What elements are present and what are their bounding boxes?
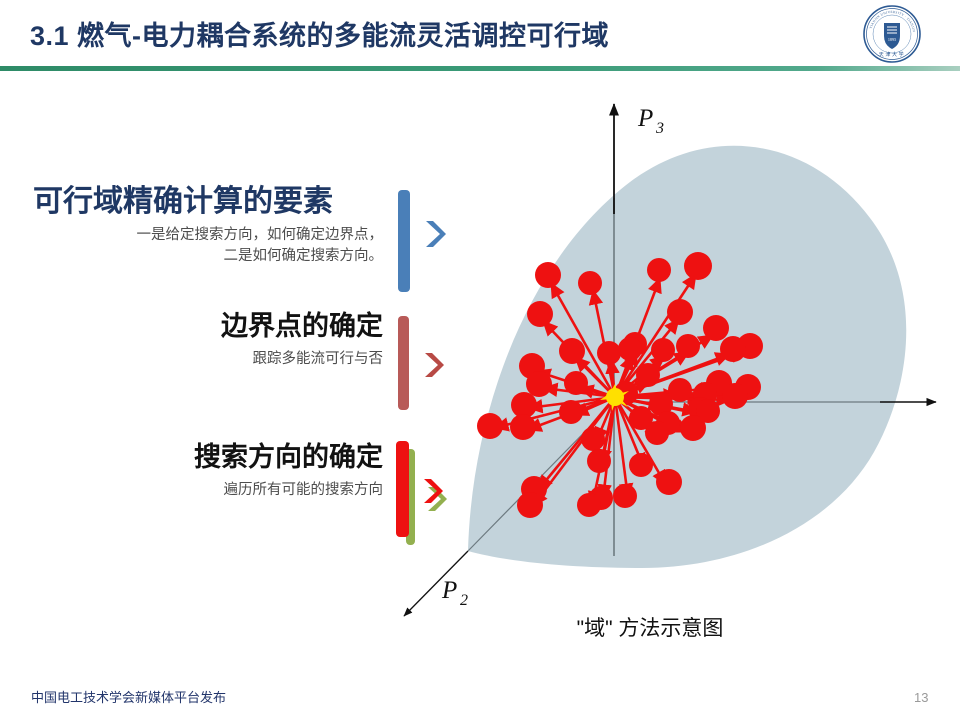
- page-title: 3.1 燃气-电力耦合系统的多能流灵活调控可行域: [30, 14, 609, 53]
- svg-text:天津大学: 天津大学: [879, 51, 905, 58]
- svg-text:P: P: [637, 105, 653, 132]
- svg-text:3: 3: [655, 120, 664, 137]
- content-block-search-direction: 搜索方向的确定 遍历所有可能的搜索方向: [33, 443, 383, 501]
- diagram-caption: "域" 方法示意图: [500, 612, 800, 642]
- axis-label-p3: P 3: [637, 105, 664, 137]
- title-divider-rule: [0, 66, 960, 71]
- svg-text:2: 2: [460, 592, 468, 609]
- axis-label-p2: P 2: [441, 577, 468, 609]
- block-body-1: 跟踪多能流可行与否: [33, 349, 383, 370]
- content-block-boundary-point: 边界点的确定 跟踪多能流可行与否: [33, 312, 383, 370]
- svg-text:P: P: [441, 577, 457, 604]
- svg-text:1895: 1895: [888, 37, 896, 42]
- university-seal-logo: 1895 天津大学 TIANJIN UNIVERSITY · TIANJIN U…: [862, 4, 922, 64]
- content-block-feasible-region: 可行域精确计算的要素 一是给定搜索方向，如何确定边界点， 二是如何确定搜索方向。: [33, 186, 383, 267]
- feasible-region-diagram: P 3 P 2: [380, 78, 960, 658]
- block-body-0: 一是给定搜索方向，如何确定边界点， 二是如何确定搜索方向。: [33, 225, 383, 267]
- block-heading-0: 可行域精确计算的要素: [33, 186, 383, 218]
- page-number: 13: [914, 690, 928, 705]
- block-body-2: 遍历所有可能的搜索方向: [33, 480, 383, 501]
- block-heading-1: 边界点的确定: [33, 312, 383, 340]
- footer-note: 中国电工技术学会新媒体平台发布: [31, 687, 226, 706]
- block-heading-2: 搜索方向的确定: [33, 443, 383, 471]
